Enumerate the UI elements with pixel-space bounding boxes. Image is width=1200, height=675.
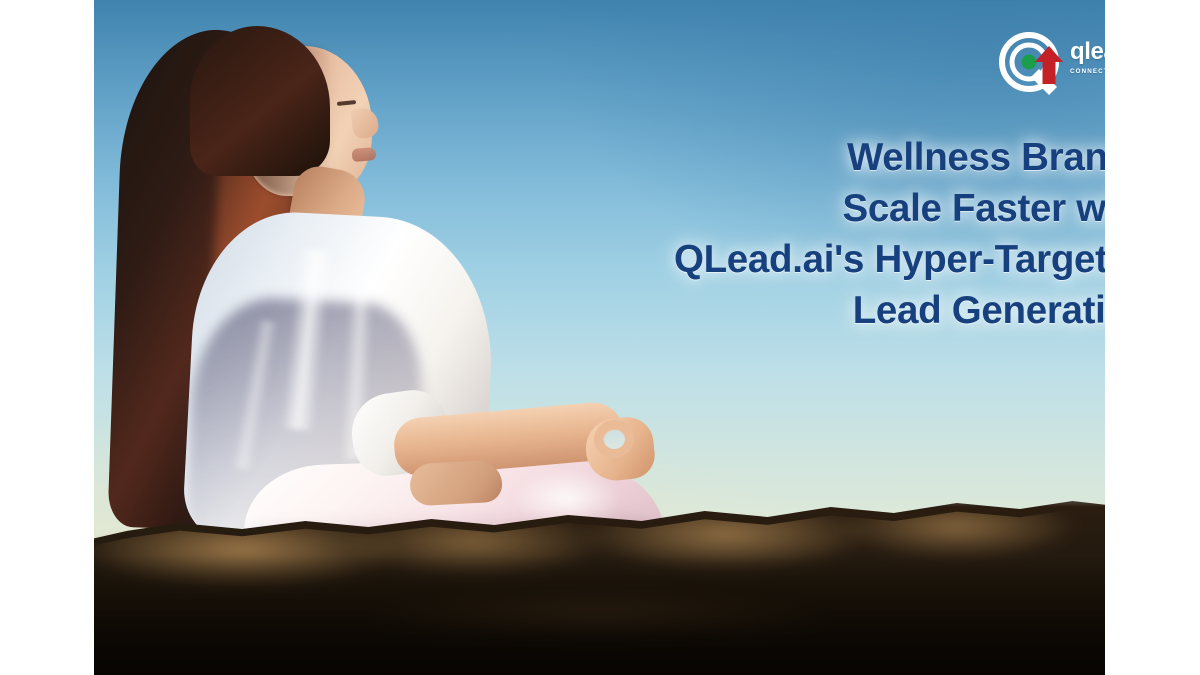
sand-shadow (94, 555, 1105, 675)
headline: Wellness Brands Scale Faster with QLead.… (524, 132, 1105, 336)
lips (351, 147, 376, 162)
logo-tagline: CONNECT. CONVERT. SELL. (1070, 69, 1105, 75)
logo-wordmark: qlead.ai (1070, 40, 1105, 64)
qlead-logo[interactable]: qlead.ai CONNECT. CONVERT. SELL. (997, 32, 1105, 96)
headline-line-2: Scale Faster with (524, 183, 1105, 234)
nose (350, 106, 380, 139)
page-canvas: qlead.ai CONNECT. CONVERT. SELL. Wellnes… (0, 0, 1200, 675)
hero-banner-image: qlead.ai CONNECT. CONVERT. SELL. Wellnes… (94, 0, 1105, 675)
headline-line-4: Lead Generation (524, 285, 1105, 336)
far-hand (409, 460, 503, 507)
logo-text-block: qlead.ai CONNECT. CONVERT. SELL. (1070, 40, 1105, 75)
headline-line-3: QLead.ai's Hyper-Targeted (524, 234, 1105, 285)
headline-line-1: Wellness Brands (524, 132, 1105, 183)
qlead-q-arrow-logo-icon (997, 32, 1069, 96)
